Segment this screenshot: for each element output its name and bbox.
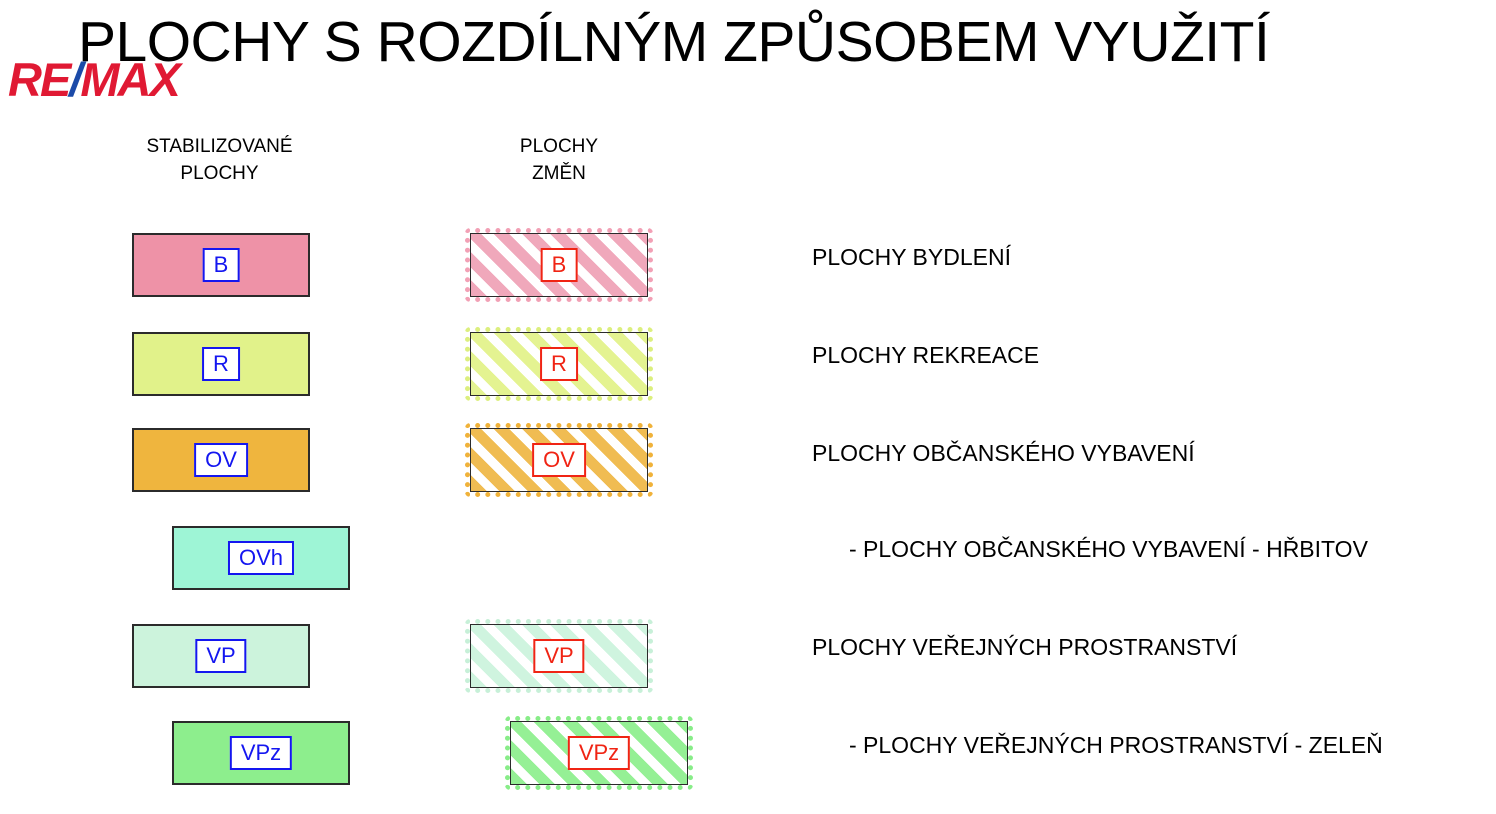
swatch-code-label: B xyxy=(203,248,240,282)
swatch-stabilized-b[interactable]: B xyxy=(132,233,310,297)
page-title: PLOCHY S ROZDÍLNÝM ZPŮSOBEM VYUŽITÍ xyxy=(78,10,1269,74)
swatch-stabilized-ov[interactable]: OV xyxy=(132,428,310,492)
swatch-code-label: OVh xyxy=(228,541,294,575)
remax-logo-re: RE xyxy=(8,53,69,106)
swatch-code-label: VPz xyxy=(568,736,630,770)
legend-description-vp: PLOCHY VEŘEJNÝCH PROSTRANSTVÍ xyxy=(812,633,1237,661)
swatch-stabilized-vp[interactable]: VP xyxy=(132,624,310,688)
swatch-change-vpz[interactable]: VPz xyxy=(510,721,688,785)
legend-description-r: PLOCHY REKREACE xyxy=(812,341,1039,369)
legend-description-ov: PLOCHY OBČANSKÉHO VYBAVENÍ xyxy=(812,439,1195,467)
legend-description-vpz: - PLOCHY VEŘEJNÝCH PROSTRANSTVÍ - ZELEŇ xyxy=(849,731,1383,759)
legend-description-b: PLOCHY BYDLENÍ xyxy=(812,243,1011,271)
swatch-code-label: B xyxy=(541,248,578,282)
swatch-stabilized-vpz[interactable]: VPz xyxy=(172,721,350,785)
swatch-code-label: VP xyxy=(533,639,584,673)
legend-description-ovh: - PLOCHY OBČANSKÉHO VYBAVENÍ - HŘBITOV xyxy=(849,535,1368,563)
swatch-code-label: OV xyxy=(532,443,586,477)
swatch-change-vp[interactable]: VP xyxy=(470,624,648,688)
swatch-change-r[interactable]: R xyxy=(470,332,648,396)
swatch-stabilized-r[interactable]: R xyxy=(132,332,310,396)
swatch-change-ov[interactable]: OV xyxy=(470,428,648,492)
swatch-code-label: OV xyxy=(194,443,248,477)
column-header-change-areas: PLOCHY ZMĚN xyxy=(470,133,648,187)
swatch-code-label: VP xyxy=(195,639,246,673)
swatch-change-b[interactable]: B xyxy=(470,233,648,297)
swatch-code-label: R xyxy=(540,347,578,381)
column-header-stabilized-areas: STABILIZOVANÉ PLOCHY xyxy=(121,133,318,187)
swatch-code-label: R xyxy=(202,347,240,381)
swatch-code-label: VPz xyxy=(230,736,292,770)
swatch-stabilized-ovh[interactable]: OVh xyxy=(172,526,350,590)
